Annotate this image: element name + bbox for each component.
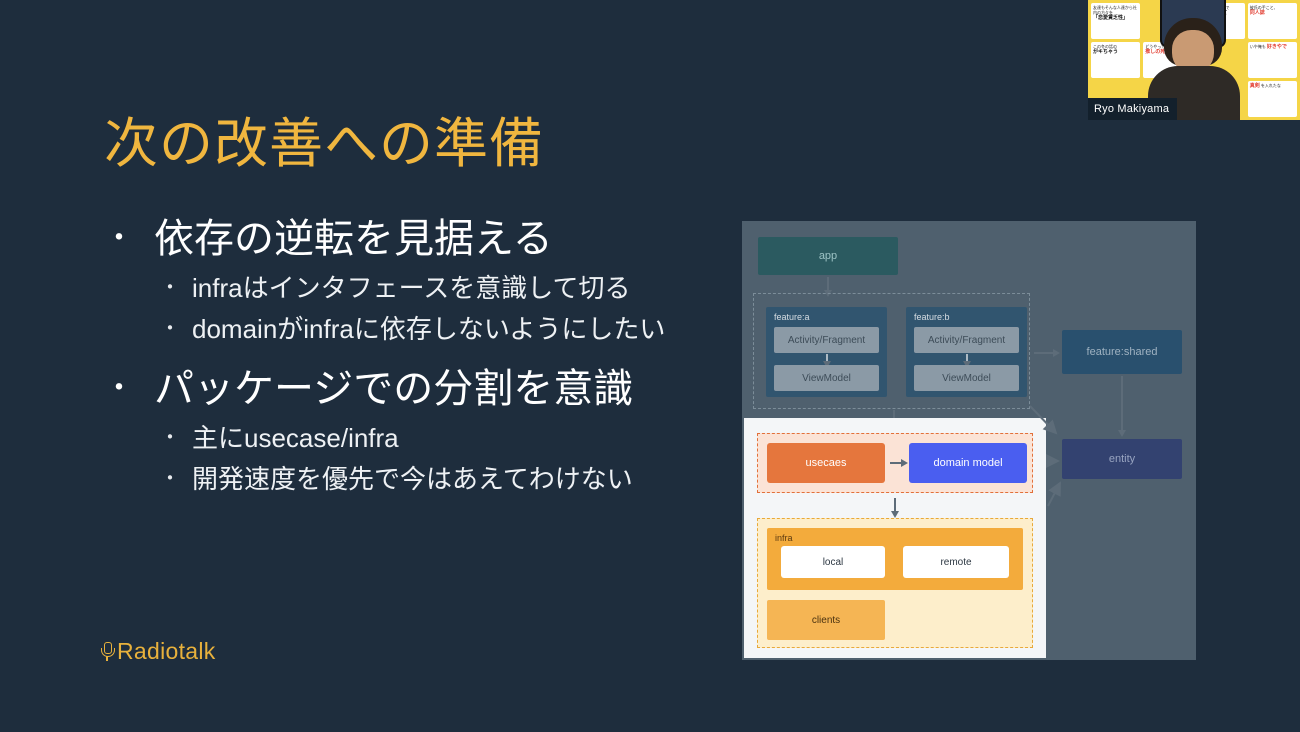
diagram-node-viewmodel-a-label: ViewModel [802, 373, 851, 384]
domain-infra-panel: usecaes domain model infra local remote … [744, 418, 1046, 658]
sub-bullet-item-1-2: ・ domainがinfraに依存しないようにしたい [160, 309, 724, 349]
diagram-node-feature-shared: feature:shared [1062, 330, 1182, 374]
diagram-node-activity-fragment-a: Activity/Fragment [774, 327, 879, 353]
bg-card: この冬の話の がキちゃう [1091, 42, 1140, 78]
microphone-icon [100, 641, 114, 663]
diagram-node-feature-b-label: feature:b [914, 312, 950, 322]
bg-card: いや俺も 好きやで [1248, 42, 1297, 78]
diagram-node-viewmodel-b-label: ViewModel [942, 373, 991, 384]
sub-bullet-item-2-2: ・ 開発速度を優先で今はあえてわけない [160, 459, 724, 499]
sub-bullet-item-2-1: ・ 主にusecase/infra [160, 418, 724, 458]
slide-title: 次の改善への準備 [104, 113, 544, 175]
diagram-node-feature-b: feature:b Activity/Fragment ViewModel [906, 307, 1027, 397]
diagram-node-local: local [781, 546, 885, 578]
diagram-node-feature-a-label: feature:a [774, 312, 810, 322]
diagram-node-activity-fragment-a-label: Activity/Fragment [788, 335, 865, 346]
sub-bullet-text: 主にusecase/infra [192, 418, 399, 458]
sub-bullet-text: 開発速度を優先で今はあえてわけない [192, 459, 633, 499]
bullet-group-spacer [104, 350, 724, 362]
diagram-node-clients-label: clients [812, 615, 840, 626]
arrow-features-to-shared [1034, 352, 1054, 354]
arrow-activity-to-viewmodel-a [826, 354, 828, 362]
bullet-item-2: ・ パッケージでの分割を意識 [104, 362, 724, 416]
bg-card: 彼氏の手こと、 同人誌 [1248, 3, 1297, 39]
bullet-marker: ・ [104, 212, 154, 266]
diagram-node-activity-fragment-b: Activity/Fragment [914, 327, 1019, 353]
diagram-node-infra-label: infra [775, 533, 793, 543]
bg-card: 真剣 を入れたな [1248, 81, 1297, 117]
diagram-node-activity-fragment-b-label: Activity/Fragment [928, 335, 1005, 346]
sub-bullet-text: infraはインタフェースを意識して切る [192, 268, 631, 308]
diagram-node-app: app [758, 237, 898, 275]
arrow-activity-to-viewmodel-b [966, 354, 968, 362]
webcam-overlay[interactable]: 友達もそんな人達から社内の方々を 「恋愛賃乏性」 この間のこの話で すげぇ言って… [1088, 0, 1300, 120]
arrow-shared-to-entity [1121, 376, 1123, 431]
sub-bullet-marker: ・ [160, 459, 192, 499]
diagram-node-entity: entity [1062, 439, 1182, 479]
diagram-node-feature-a: feature:a Activity/Fragment ViewModel [766, 307, 887, 397]
participant-name-label: Ryo Makiyama [1088, 98, 1177, 120]
diagram-node-usecaes-label: usecaes [806, 457, 847, 469]
bullet-text: パッケージでの分割を意識 [154, 362, 633, 416]
diagram-node-domain-model: domain model [909, 443, 1027, 483]
diagram-node-viewmodel-b: ViewModel [914, 365, 1019, 391]
diagram-node-entity-label: entity [1109, 453, 1135, 465]
arrow-app-to-features [827, 277, 829, 291]
bullet-item-1: ・ 依存の逆転を見据える [104, 212, 724, 266]
bullet-list: ・ 依存の逆転を見据える ・ infraはインタフェースを意識して切る ・ do… [104, 212, 724, 500]
sub-bullet-marker: ・ [160, 309, 192, 349]
radiotalk-logo-text: Radiotalk [117, 638, 216, 665]
bullet-marker: ・ [104, 362, 154, 416]
sub-bullet-marker: ・ [160, 418, 192, 458]
diagram-node-local-label: local [823, 557, 844, 568]
bg-card: 友達もそんな人達から社内の方々を 「恋愛賃乏性」 [1091, 3, 1140, 39]
arrow-domain-to-infra [894, 498, 896, 512]
diagram-node-feature-shared-label: feature:shared [1087, 346, 1158, 358]
diagram-node-usecaes: usecaes [767, 443, 885, 483]
diagram-node-clients: clients [767, 600, 885, 640]
arrow-usecaes-to-domain-model [890, 462, 902, 464]
architecture-diagram: app feature:a Activity/Fragment ViewMode… [742, 221, 1196, 660]
sub-bullet-item-1-1: ・ infraはインタフェースを意識して切る [160, 268, 724, 308]
diagram-node-infra: infra local remote [767, 528, 1023, 590]
diagram-node-remote-label: remote [940, 557, 971, 568]
sub-bullet-text: domainがinfraに依存しないようにしたい [192, 309, 665, 349]
bullet-text: 依存の逆転を見据える [154, 212, 553, 266]
diagram-node-viewmodel-a: ViewModel [774, 365, 879, 391]
sub-bullet-marker: ・ [160, 268, 192, 308]
diagram-node-app-label: app [819, 250, 837, 262]
diagram-node-domain-model-label: domain model [933, 457, 1002, 469]
diagram-node-remote: remote [903, 546, 1009, 578]
radiotalk-logo: Radiotalk [100, 638, 216, 665]
